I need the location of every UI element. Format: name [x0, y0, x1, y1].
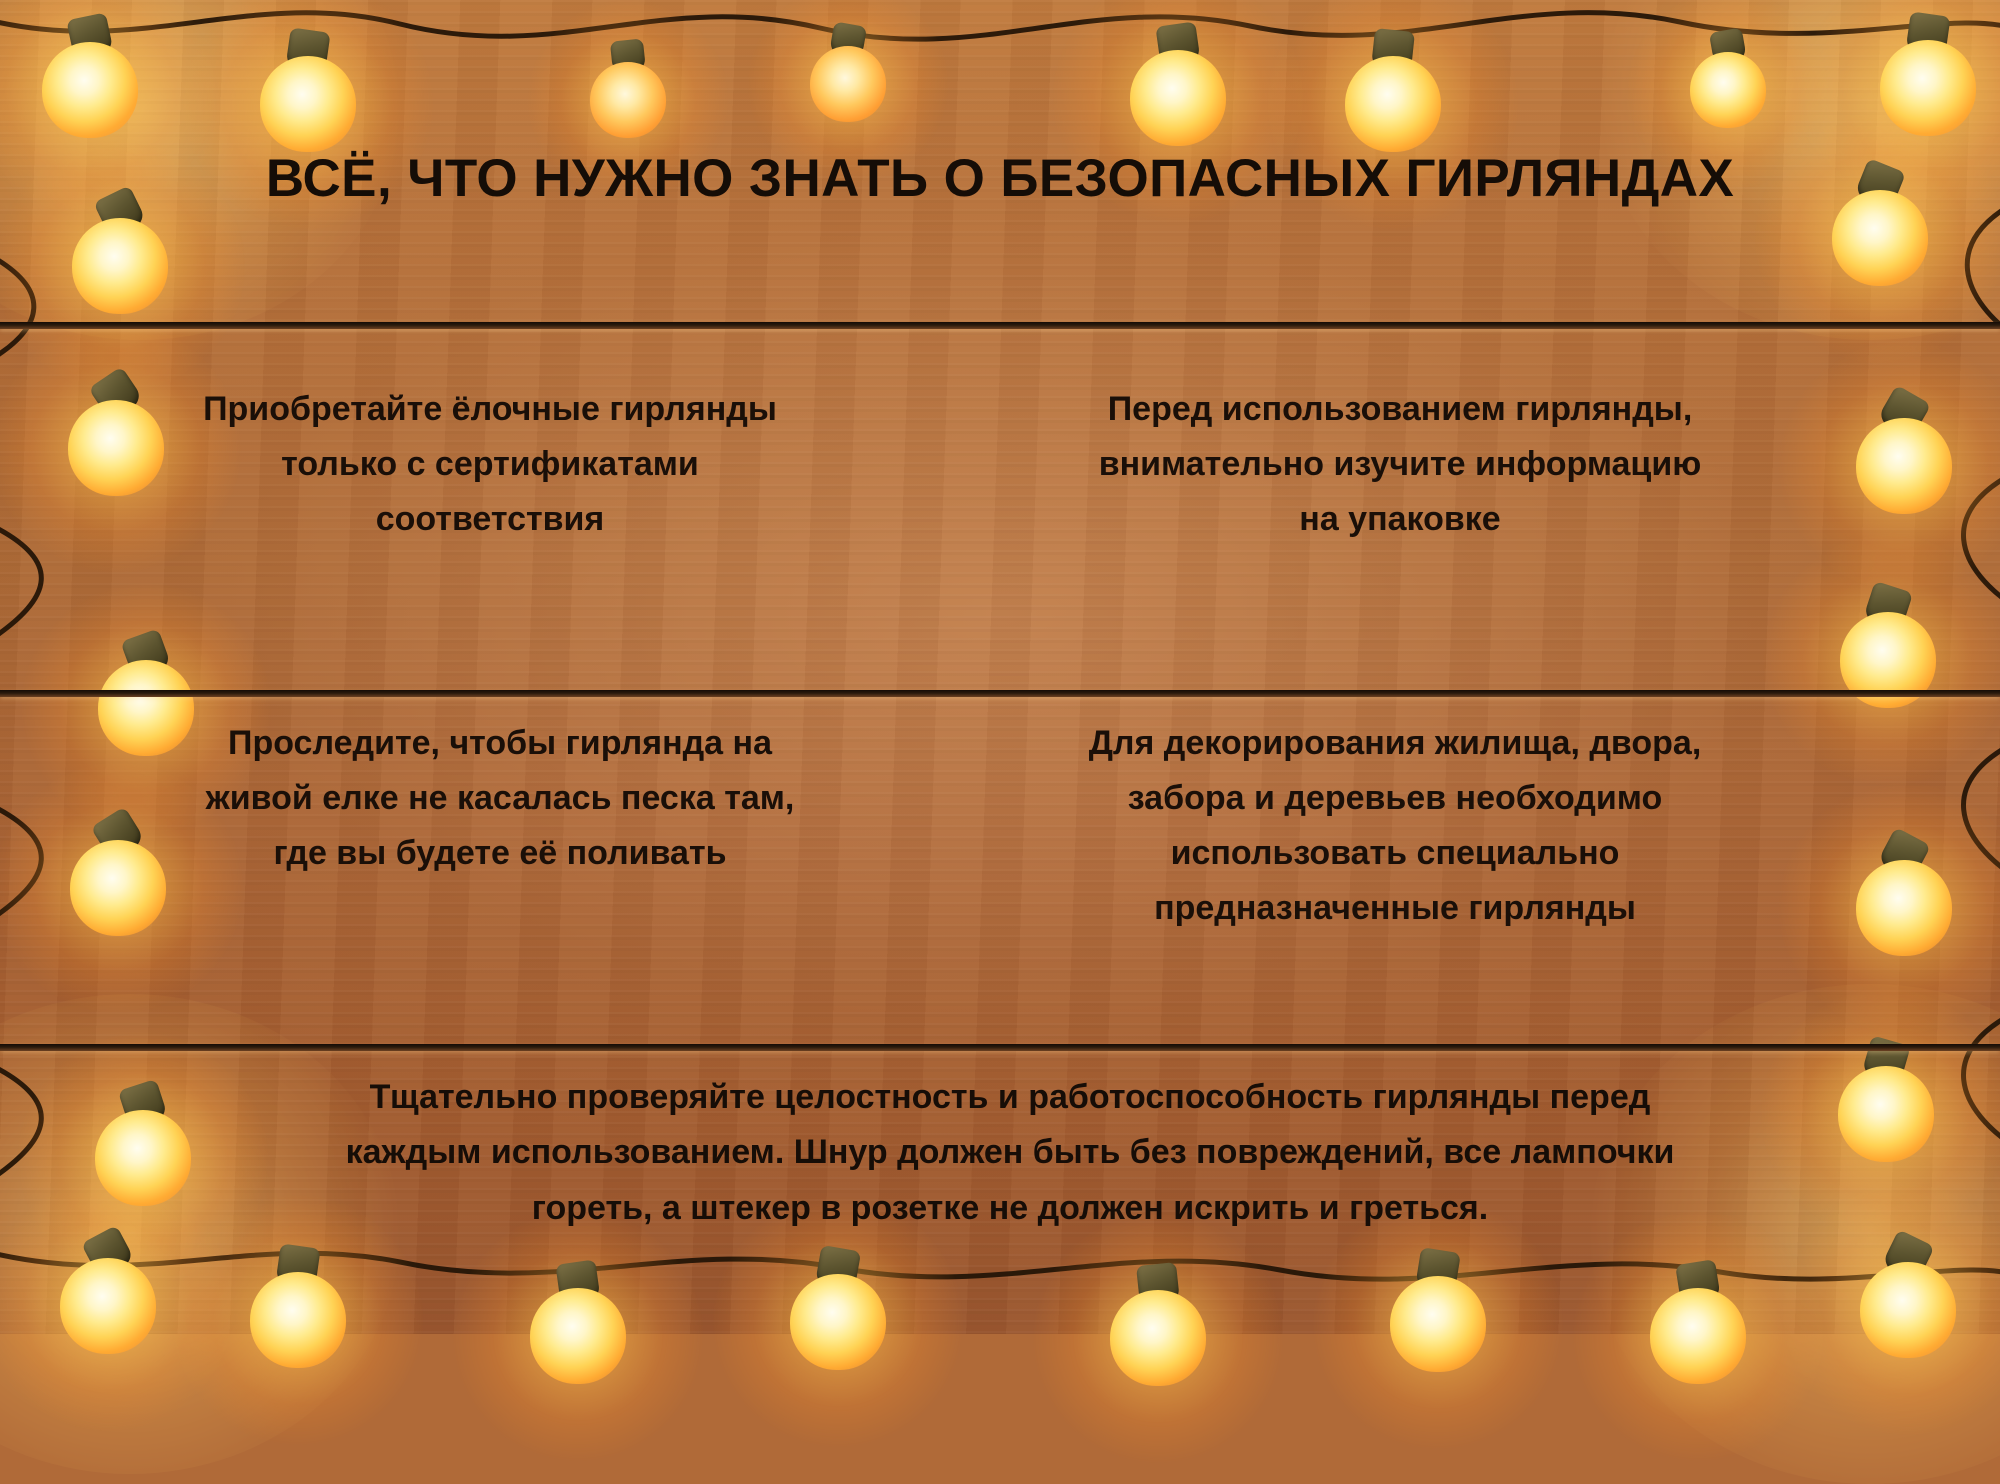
tip-line: живой елке не касалась песка там,	[175, 771, 825, 826]
tip-card-3: Проследите, чтобы гирлянда на живой елке…	[175, 716, 825, 881]
tip-line: предназначенные гирлянды	[1020, 881, 1770, 936]
tip-line: использовать специально	[1020, 826, 1770, 881]
tip-line: гореть, а штекер в розетке не должен иск…	[200, 1181, 1820, 1236]
page-title: ВСЁ, ЧТО НУЖНО ЗНАТЬ О БЕЗОПАСНЫХ ГИРЛЯН…	[0, 148, 2000, 209]
tip-card-1: Приобретайте ёлочные гирлянды только с с…	[170, 382, 810, 547]
tip-line: на упаковке	[1030, 492, 1770, 547]
tip-line: забора и деревьев необходимо	[1020, 771, 1770, 826]
tip-line: только с сертификатами	[170, 437, 810, 492]
tip-line: каждым использованием. Шнур должен быть …	[200, 1125, 1820, 1180]
tip-card-5: Тщательно проверяйте целостность и работ…	[200, 1070, 1820, 1236]
tip-line: Приобретайте ёлочные гирлянды	[170, 382, 810, 437]
tip-line: Тщательно проверяйте целостность и работ…	[200, 1070, 1820, 1125]
tip-line: внимательно изучите информацию	[1030, 437, 1770, 492]
tip-line: соответствия	[170, 492, 810, 547]
tip-line: где вы будете её поливать	[175, 826, 825, 881]
tip-line: Проследите, чтобы гирлянда на	[175, 716, 825, 771]
tip-line: Для декорирования жилища, двора,	[1020, 716, 1770, 771]
tip-line: Перед использованием гирлянды,	[1030, 382, 1770, 437]
tip-card-4: Для декорирования жилища, двора, забора …	[1020, 716, 1770, 936]
tip-card-2: Перед использованием гирлянды, вниматель…	[1030, 382, 1770, 547]
